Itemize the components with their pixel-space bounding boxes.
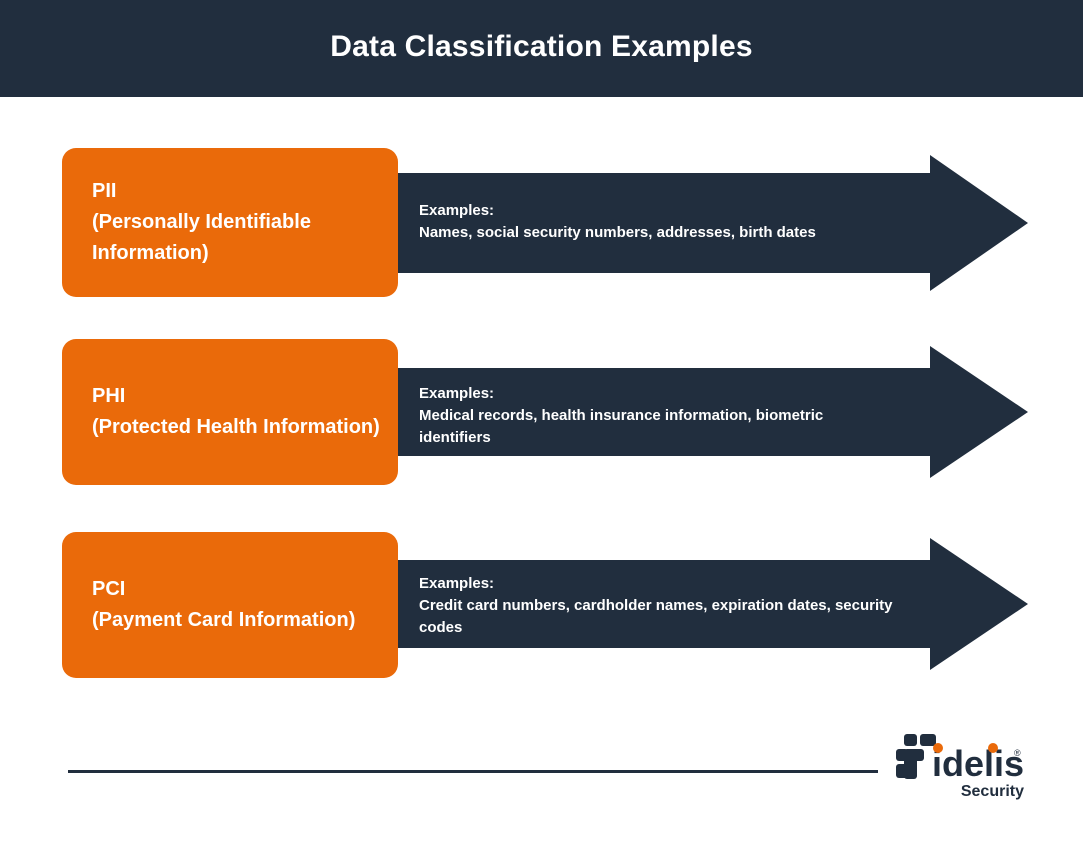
- category-abbreviation: PHI: [92, 381, 398, 412]
- category-full-name: (Protected Health Information): [92, 412, 382, 443]
- category-abbreviation: PII: [92, 176, 398, 207]
- examples-label: Examples:: [419, 573, 899, 595]
- category-full-name: (Personally Identifiable Information): [92, 207, 382, 269]
- fidelis-security-logo: idelis ® Security: [896, 730, 1026, 806]
- examples-block: Examples: Names, social security numbers…: [419, 200, 816, 244]
- category-box-pci: PCI (Payment Card Information): [62, 532, 398, 678]
- examples-label: Examples:: [419, 383, 899, 405]
- footer-divider: [68, 770, 878, 773]
- examples-text: Names, social security numbers, addresse…: [419, 222, 816, 244]
- registered-mark: ®: [1014, 748, 1021, 758]
- classification-row: PCI (Payment Card Information) Examples:…: [0, 532, 1083, 678]
- examples-block: Examples: Credit card numbers, cardholde…: [419, 573, 899, 639]
- category-full-name: (Payment Card Information): [92, 605, 382, 636]
- examples-text: Credit card numbers, cardholder names, e…: [419, 595, 899, 639]
- classification-row: PII (Personally Identifiable Information…: [0, 148, 1083, 298]
- classification-rows: PII (Personally Identifiable Information…: [0, 0, 1083, 848]
- category-box-pii: PII (Personally Identifiable Information…: [62, 148, 398, 297]
- examples-block: Examples: Medical records, health insura…: [419, 383, 899, 449]
- classification-row: PHI (Protected Health Information) Examp…: [0, 339, 1083, 485]
- examples-text: Medical records, health insurance inform…: [419, 405, 899, 449]
- category-box-phi: PHI (Protected Health Information): [62, 339, 398, 485]
- logo-tagline: Security: [961, 783, 1024, 800]
- svg-text:idelis: idelis: [932, 743, 1024, 784]
- category-abbreviation: PCI: [92, 574, 398, 605]
- examples-label: Examples:: [419, 200, 816, 222]
